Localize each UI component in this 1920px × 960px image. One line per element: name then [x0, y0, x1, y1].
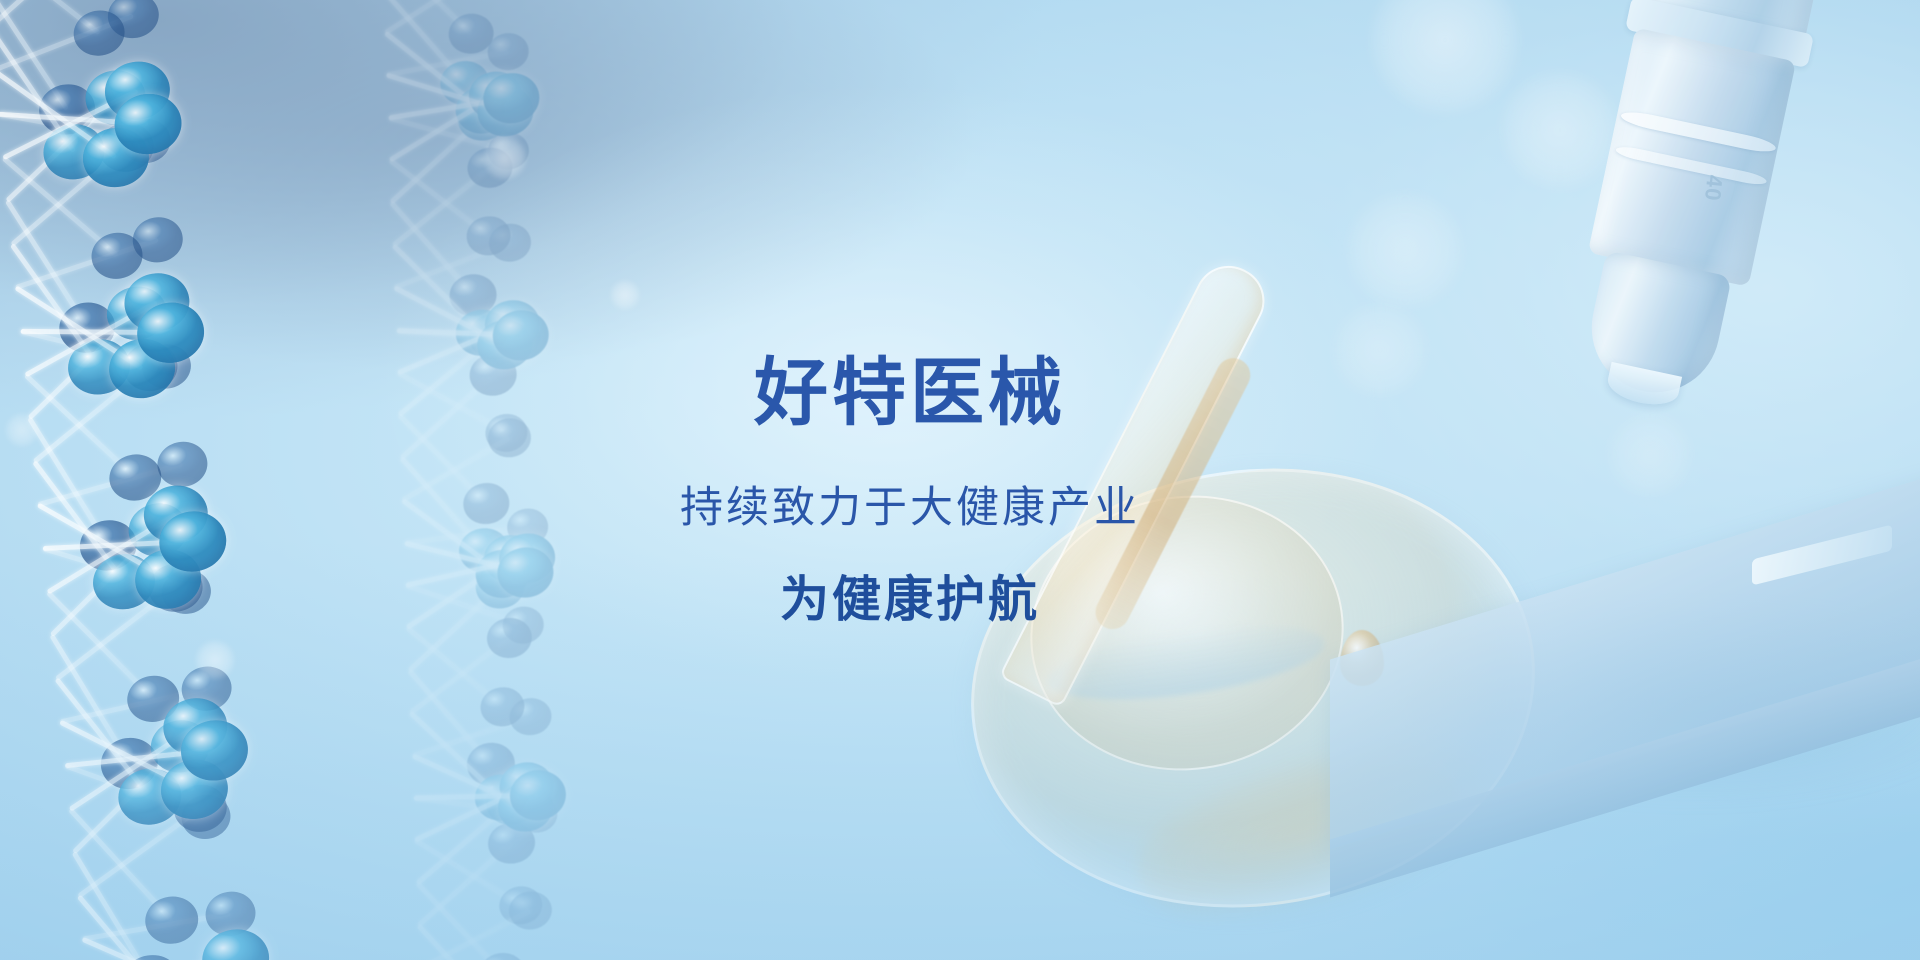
banner-tagline: 为健康护航	[780, 570, 1040, 631]
dna-base-pair	[29, 418, 110, 547]
banner-subtitle: 持续致力于大健康产业	[680, 482, 1140, 536]
microscope-magnification-label: 40	[1699, 174, 1728, 203]
banner-title: 好特医械	[754, 356, 1066, 430]
bokeh-highlight	[1370, 0, 1520, 115]
bokeh-highlight	[1346, 191, 1464, 309]
hero-banner: 40 好特医械 持续致力于大健康产业 为健康护航	[0, 0, 1920, 960]
dna-nucleotide-sphere	[198, 925, 273, 960]
microscope-barrel-mid	[1588, 28, 1796, 287]
dna-base-pair	[21, 330, 171, 333]
dna-nucleotide-sphere	[155, 438, 211, 490]
